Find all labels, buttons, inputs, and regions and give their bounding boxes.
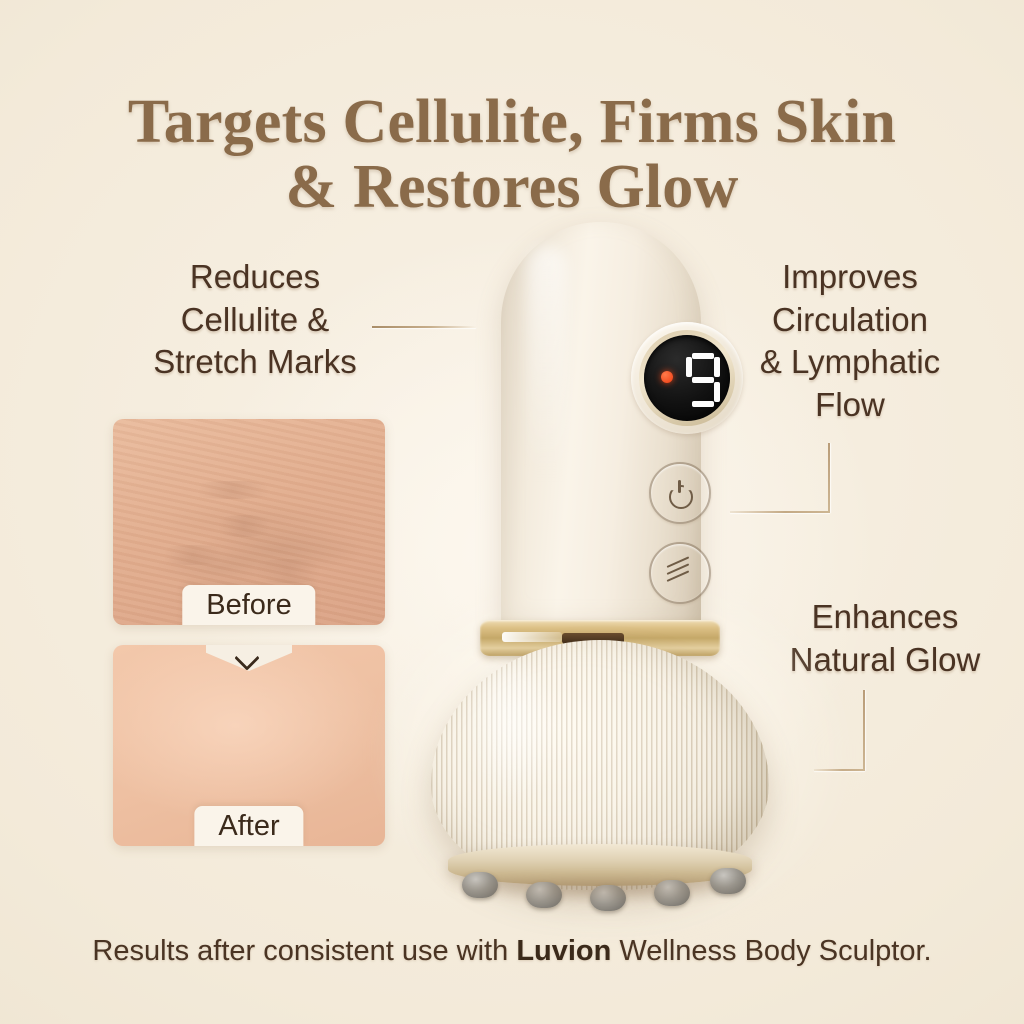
device-handle bbox=[501, 222, 701, 634]
chevron-down-icon bbox=[236, 649, 262, 662]
display-ring bbox=[639, 330, 735, 426]
led-indicator-icon bbox=[661, 371, 673, 383]
cellulite-texture bbox=[153, 545, 233, 565]
page-title: Targets Cellulite, Firms Skin & Restores… bbox=[0, 90, 1024, 221]
cellulite-texture bbox=[183, 481, 283, 499]
headline-line-2: & Restores Glow bbox=[0, 155, 1024, 221]
before-image: Before bbox=[113, 419, 385, 625]
footer-caption: Results after consistent use with Luvion… bbox=[0, 935, 1024, 968]
mode-button[interactable] bbox=[649, 542, 711, 604]
display-bezel bbox=[631, 322, 743, 434]
footer-suffix: Wellness Body Sculptor. bbox=[611, 935, 931, 967]
headline-line-1: Targets Cellulite, Firms Skin bbox=[128, 88, 896, 156]
band-highlight bbox=[502, 632, 562, 642]
device-shadow bbox=[444, 874, 756, 904]
after-badge: After bbox=[194, 806, 303, 846]
footer-prefix: Results after consistent use with bbox=[92, 935, 516, 967]
display-digit-9 bbox=[686, 353, 720, 407]
product-device bbox=[418, 222, 808, 902]
after-image: After bbox=[113, 645, 385, 846]
before-badge: Before bbox=[182, 585, 315, 625]
connector-vertical-segment bbox=[828, 443, 830, 513]
callout-reduces-cellulite: Reduces Cellulite & Stretch Marks bbox=[110, 256, 400, 384]
power-button[interactable] bbox=[649, 462, 711, 524]
cellulite-texture bbox=[243, 559, 333, 583]
promo-canvas: Targets Cellulite, Firms Skin & Restores… bbox=[0, 0, 1024, 1024]
power-icon bbox=[669, 482, 691, 504]
brand-name: Luvion bbox=[516, 935, 611, 967]
intensity-waves-icon bbox=[667, 562, 693, 584]
cellulite-texture bbox=[209, 515, 279, 537]
device-display bbox=[644, 335, 730, 421]
